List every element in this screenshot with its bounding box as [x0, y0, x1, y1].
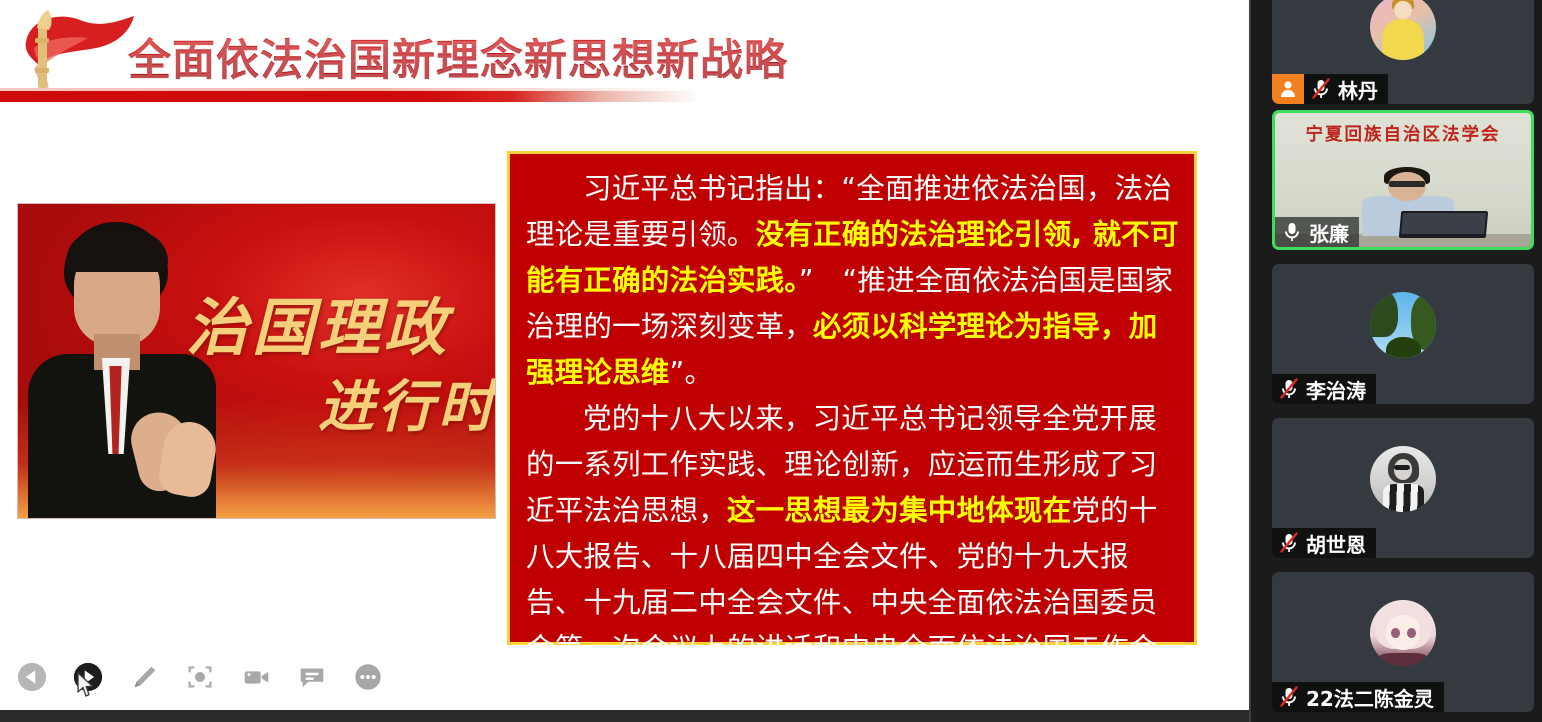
participant-name: 胡世恩 [1306, 529, 1366, 558]
quote-paragraph-1: 习近平总书记指出：“全面推进依法治国，法治理论是重要引领。没有正确的法治理论引领… [526, 166, 1180, 396]
mic-muted-icon [1278, 685, 1300, 709]
participant-name: 林丹 [1338, 75, 1378, 104]
slide-header: 全面依法治国新理念新思想新战略 [0, 0, 1251, 104]
host-badge [1272, 74, 1304, 104]
previous-slide-button[interactable] [16, 660, 48, 694]
participant-name-chip: 林丹 [1304, 74, 1388, 104]
participant-name-chip: 李治涛 [1272, 374, 1376, 404]
slide-photo: 治国理政 进行时 [17, 203, 496, 519]
participant-tile-chenjinling[interactable]: 22法二陈金灵 [1272, 572, 1534, 712]
participant-name: 李治涛 [1306, 375, 1366, 404]
slide-bottom-bar [0, 710, 1251, 722]
avatar [1370, 600, 1436, 666]
participant-tile-lizhitao[interactable]: 李治涛 [1272, 264, 1534, 404]
participant-tile-lindan[interactable]: 林丹 [1272, 0, 1534, 104]
page-title: 全面依法治国新理念新思想新战略 [128, 26, 788, 88]
participant-name: 张廉 [1309, 218, 1349, 247]
avatar [1370, 0, 1436, 60]
participant-name-chip: 22法二陈金灵 [1272, 682, 1444, 712]
chat-bubble-button[interactable] [296, 660, 328, 694]
mic-muted-icon [1310, 77, 1332, 101]
participant-tile-zhanglian[interactable]: 宁夏回族自治区法学会 张廉 [1272, 110, 1534, 250]
participant-name: 22法二陈金灵 [1306, 683, 1434, 712]
avatar [1370, 292, 1436, 358]
spotlight-focus-button[interactable] [184, 660, 216, 694]
slide-content: 全面依法治国新理念新思想新战略 治国理政 进行时 [0, 0, 1251, 710]
mic-unmuted-icon [1281, 220, 1303, 244]
annotation-toolbar[interactable] [16, 655, 346, 699]
photo-calligraphy-line-1: 治国理政 [186, 277, 450, 367]
pencil-annotate-button[interactable] [128, 660, 160, 694]
mouse-cursor-icon [77, 672, 95, 698]
red-flag-torch-logo-icon [8, 8, 138, 96]
shared-slide-area[interactable]: 全面依法治国新理念新思想新战略 治国理政 进行时 [0, 0, 1251, 722]
camera-video-button[interactable] [240, 660, 272, 694]
slide-quote-box: 习近平总书记指出：“全面推进依法治国，法治理论是重要引领。没有正确的法治理论引领… [507, 151, 1197, 645]
participant-tile-hushien[interactable]: 胡世恩 [1272, 418, 1534, 558]
quote-paragraph-2: 党的十八大以来，习近平总书记领导全党开展的一系列工作实践、理论创新，应运而生形成… [526, 396, 1180, 718]
photo-calligraphy-line-2: 进行时 [318, 362, 496, 443]
participant-name-chip: 胡世恩 [1272, 528, 1376, 558]
header-divider [0, 91, 1251, 102]
mic-muted-icon [1278, 377, 1300, 401]
more-options-button[interactable] [352, 660, 384, 694]
meeting-screen-share-window: 全面依法治国新理念新思想新战略 治国理政 进行时 [0, 0, 1542, 722]
person-icon [1278, 79, 1298, 99]
participant-name-chip: 张廉 [1275, 217, 1359, 247]
mic-muted-icon [1278, 531, 1300, 555]
portrait-figure-icon [22, 216, 222, 519]
avatar [1370, 446, 1436, 512]
speaker-room-banner: 宁夏回族自治区法学会 [1275, 121, 1531, 146]
